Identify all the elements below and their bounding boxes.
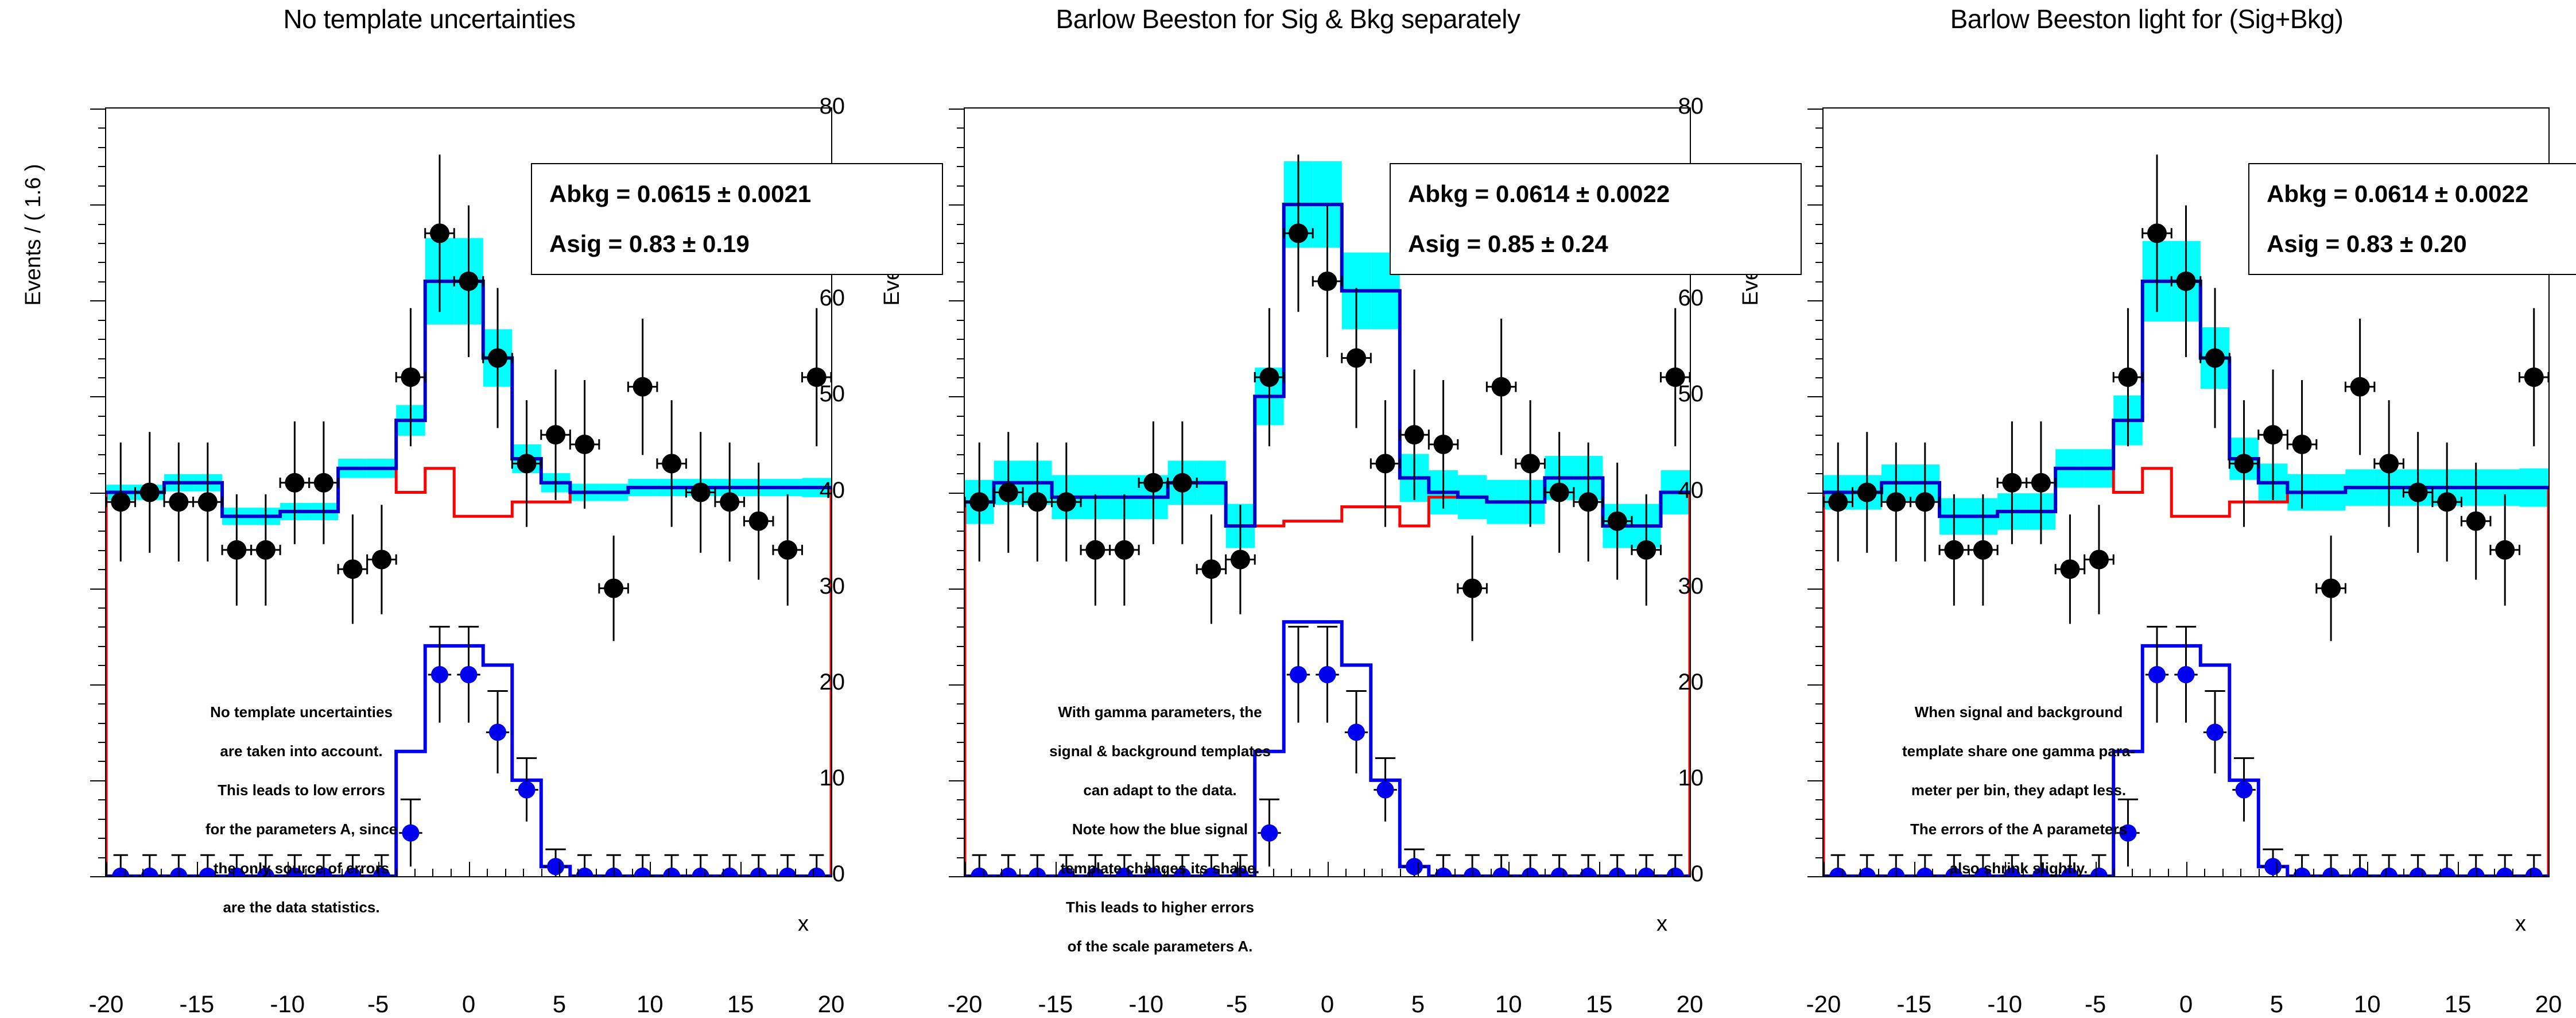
x-tick-minor [596,869,597,877]
data-point [1944,540,1964,560]
data-point [401,367,420,387]
x-tick-label: 20 [2508,990,2576,1018]
x-tick-label: 20 [1650,990,1730,1018]
signal-data-point [2236,781,2253,799]
y-tick-major [949,780,965,781]
stat-asig: Asig = 0.83 ± 0.20 [2267,230,2576,258]
y-tick-minor [1815,646,1824,647]
x-tick-major [1599,862,1600,877]
y-tick-minor [1815,339,1824,340]
y-tick-major [90,589,106,590]
y-tick-minor [957,454,965,455]
panel-annotation: With gamma parameters, the signal & back… [999,705,1321,978]
x-tick-minor [1436,869,1437,877]
data-point [2263,425,2283,444]
y-tick-minor [98,550,106,551]
y-tick-major [949,396,965,397]
y-tick-minor [1815,185,1824,187]
data-point [256,540,276,560]
data-point [2379,454,2399,473]
y-tick-minor [98,243,106,244]
annotation-line: meter per bin, they adapt less. [1858,783,2179,798]
y-tick-minor [957,703,965,705]
signal-data-point [2294,868,2311,876]
data-point [1085,540,1105,560]
y-tick-label: 40 [782,478,845,504]
y-tick-minor [98,473,106,474]
y-tick-major [90,109,106,110]
x-tick-label: -5 [338,990,418,1018]
plot-frame: Events / ( 1.6 ) With gamma parameters, … [964,107,1691,877]
y-tick-minor [98,799,106,800]
data-point [1973,540,1993,560]
data-point [1608,512,1627,531]
y-tick-major [1807,493,1824,494]
data-point [1347,349,1366,368]
x-tick-minor [2349,869,2350,877]
signal-data-point [971,868,988,876]
y-tick-major [1807,589,1824,590]
annotation-line: are the data statistics. [141,900,462,915]
data-point [2002,473,2022,493]
annotation-line: can adapt to the data. [999,783,1321,798]
x-tick-minor [1382,869,1383,877]
data-point [517,454,537,473]
x-tick-minor [983,869,984,877]
x-tick-label: -20 [66,990,146,1018]
y-tick-label: 80 [782,94,845,119]
x-tick-label: 10 [610,990,690,1018]
y-tick-minor [1815,454,1824,455]
x-tick-minor [668,869,669,877]
x-tick-label: 0 [2146,990,2226,1018]
y-tick-label: 50 [782,381,845,407]
x-tick-minor [1563,869,1564,877]
y-tick-minor [1815,819,1824,820]
data-point [720,492,739,512]
data-point [169,492,188,512]
y-tick-minor [957,377,965,378]
x-tick-label: -20 [925,990,1005,1018]
panel-1: No template uncertainties Events / ( 1.6… [0,0,859,985]
signal-data-point [431,666,448,683]
x-tick-major [965,862,966,877]
y-tick-minor [1815,166,1824,167]
annotation-line: This leads to higher errors [999,900,1321,915]
data-point [662,454,681,473]
y-tick-minor [957,550,965,551]
x-tick-minor [2259,869,2260,877]
x-tick-major [2276,862,2278,877]
data-point [2205,349,2225,368]
stat-abkg: Abkg = 0.0614 ± 0.0022 [1408,180,1801,208]
plot-frame: Events / ( 1.6 ) No template uncertainti… [105,107,832,877]
annotation-line: are taken into account. [141,744,462,758]
data-point [343,559,362,579]
y-tick-minor [957,665,965,666]
y-tick-minor [957,742,965,743]
data-point [227,540,246,560]
y-tick-label: 60 [782,285,845,311]
signal-data-point [1377,781,1394,799]
annotation-line: template changes its shape. [999,861,1321,876]
x-tick-major [650,862,651,877]
y-tick-minor [1815,531,1824,532]
data-point [1143,473,1163,493]
y-tick-minor [98,166,106,167]
panel-3: Barlow Beeston light for (Sig+Bkg) Event… [1717,0,2576,985]
y-tick-minor [1815,550,1824,551]
y-tick-label: 20 [782,669,845,695]
y-tick-minor [98,723,106,724]
x-axis-label: x [2515,912,2526,936]
data-point [314,473,333,493]
x-tick-minor [1454,869,1456,877]
y-tick-minor [98,819,106,820]
x-tick-major [2186,862,2187,877]
annotation-line: also shrink slightly. [1858,861,2179,876]
data-point [1231,549,1250,569]
x-tick-major [1418,862,1419,877]
y-tick-minor [98,185,106,187]
data-point [1434,435,1453,454]
y-tick-minor [957,473,965,474]
y-tick-minor [957,646,965,647]
signal-data-point [1435,868,1452,876]
x-tick-minor [2240,869,2241,877]
y-tick-major [1807,109,1824,110]
y-tick-minor [98,607,106,609]
y-tick-minor [1815,607,1824,609]
data-point [1318,272,1337,291]
signal-data-point [2178,666,2195,683]
data-point [546,425,565,444]
data-point [1173,473,1192,493]
y-tick-minor [98,147,106,148]
signal-data-point [721,868,738,876]
x-tick-label: 10 [2327,990,2407,1018]
signal-data-point [1406,858,1423,875]
data-point [1636,540,1656,560]
y-tick-minor [98,454,106,455]
y-tick-minor [98,857,106,858]
y-tick-major [90,300,106,301]
x-tick-major [1824,862,1825,877]
y-tick-minor [98,127,106,129]
y-tick-major [90,493,106,494]
y-tick-minor [957,243,965,244]
y-tick-label: 10 [782,765,845,791]
y-tick-minor [957,127,965,129]
y-tick-label: 60 [1640,285,1704,311]
signal-data-point [1580,868,1597,876]
panel-annotation: No template uncertainties are taken into… [141,705,462,939]
stat-asig: Asig = 0.85 ± 0.24 [1408,230,1801,258]
y-tick-minor [957,531,965,532]
y-tick-major [1807,684,1824,686]
y-tick-minor [1815,742,1824,743]
data-point [2031,473,2051,493]
y-tick-minor [1815,281,1824,282]
y-tick-label: 80 [1640,94,1704,119]
y-tick-minor [1815,320,1824,321]
y-tick-label: 20 [1640,669,1704,695]
panel-2: Barlow Beeston for Sig & Bkg separately … [859,0,1717,985]
x-tick-minor [2313,869,2314,877]
y-tick-minor [957,838,965,839]
data-point [198,492,218,512]
y-tick-minor [98,646,106,647]
x-tick-minor [2385,869,2387,877]
y-tick-minor [1815,512,1824,513]
signal-data-point [1290,666,1307,683]
annotation-line: No template uncertainties [141,705,462,719]
x-tick-minor [1400,869,1401,877]
data-point [2437,492,2457,512]
plot-frame: Events / ( 1.6 ) When signal and backgro… [1822,107,2550,877]
y-tick-minor [98,742,106,743]
data-point [2118,367,2137,387]
y-tick-minor [957,435,965,436]
y-tick-major [90,204,106,206]
y-tick-minor [957,857,965,858]
y-tick-minor [957,607,965,609]
data-point [1289,223,1308,243]
y-tick-minor [98,262,106,263]
y-tick-minor [1815,857,1824,858]
signal-data-point [2525,868,2543,876]
x-tick-minor [2295,869,2296,877]
x-tick-major [2548,862,2550,877]
x-tick-label: 0 [1287,990,1368,1018]
y-tick-major [949,876,965,877]
x-tick-label: 20 [791,990,871,1018]
data-point [1550,483,1569,502]
x-tick-major [106,862,107,877]
x-tick-minor [686,869,687,877]
signal-data-point [2496,868,2513,876]
signal-data-point [2264,858,2282,875]
y-tick-major [90,876,106,877]
x-tick-major [1328,862,1329,877]
data-point [1115,540,1134,560]
x-tick-minor [1527,869,1528,877]
annotation-line: signal & background templates [999,744,1321,758]
x-tick-label: -5 [1197,990,1277,1018]
stats-box: Abkg = 0.0615 ± 0.0021 Asig = 0.83 ± 0.1… [531,163,943,275]
y-tick-major [1807,876,1824,877]
x-tick-minor [2494,869,2495,877]
y-tick-major [90,684,106,686]
data-point [2089,549,2109,569]
data-point [2495,540,2515,560]
x-tick-major [469,862,470,877]
x-tick-label: 15 [700,990,781,1018]
x-tick-minor [1472,869,1473,877]
y-tick-minor [98,416,106,417]
data-point [2524,367,2544,387]
x-tick-minor [2403,869,2404,877]
data-point [2060,559,2080,579]
x-tick-major [2458,862,2459,877]
annotation-line: the only source of errors [141,861,462,876]
signal-data-point [634,868,651,876]
x-tick-minor [777,869,778,877]
x-tick-minor [759,869,760,877]
x-tick-minor [505,869,506,877]
y-tick-minor [1815,243,1824,244]
y-tick-minor [957,147,965,148]
signal-data-point [1348,723,1365,741]
y-tick-major [949,684,965,686]
y-tick-minor [98,224,106,225]
signal-data-point [1551,868,1568,876]
y-tick-minor [1815,377,1824,378]
y-tick-label: 10 [1640,765,1704,791]
y-tick-major [90,396,106,397]
x-tick-minor [632,869,633,877]
x-tick-minor [125,869,126,877]
x-tick-major [2367,862,2368,877]
x-tick-label: 0 [429,990,509,1018]
signal-data-point [2380,868,2397,876]
y-tick-minor [957,224,965,225]
data-point [2350,377,2370,397]
data-point [2292,435,2312,454]
data-point [459,272,479,291]
x-tick-label: -15 [1874,990,1954,1018]
y-tick-minor [1815,569,1824,570]
y-tick-minor [98,320,106,321]
x-tick-label: -10 [1106,990,1186,1018]
x-tick-minor [523,869,524,877]
data-point [604,579,623,598]
y-tick-minor [957,723,965,724]
stat-asig: Asig = 0.83 ± 0.19 [549,230,942,258]
x-tick-minor [1545,869,1546,877]
y-tick-minor [957,799,965,800]
data-point [1492,377,1511,397]
stat-abkg: Abkg = 0.0614 ± 0.0022 [2267,180,2576,208]
y-tick-minor [1815,473,1824,474]
data-point [1886,492,1906,512]
y-tick-minor [1815,626,1824,628]
x-tick-label: -10 [247,990,328,1018]
x-tick-label: -15 [157,990,237,1018]
y-tick-major [1807,780,1824,781]
signal-data-point [547,858,564,875]
data-point [1915,492,1935,512]
signal-data-point [2410,868,2427,876]
y-tick-label: 50 [1640,381,1704,407]
signal-data-point [1829,868,1846,876]
y-tick-major [90,780,106,781]
signal-data-point [576,868,593,876]
y-tick-minor [1815,761,1824,762]
y-tick-major [1807,396,1824,397]
y-tick-minor [98,569,106,570]
y-tick-minor [957,416,965,417]
y-tick-label: 40 [1640,478,1704,504]
data-point [1057,492,1076,512]
panel-title: Barlow Beeston for Sig & Bkg separately [859,3,1717,34]
y-tick-minor [98,626,106,628]
y-tick-label: 0 [782,861,845,887]
data-point [691,483,711,502]
data-point [488,349,507,368]
data-point [2466,512,2486,531]
panel-annotation: When signal and background template shar… [1858,705,2179,900]
y-tick-minor [98,281,106,282]
y-tick-minor [957,761,965,762]
stat-abkg: Abkg = 0.0615 ± 0.0021 [549,180,942,208]
signal-data-point [460,666,478,683]
data-point [1462,579,1482,598]
y-tick-major [1807,300,1824,301]
signal-data-point [2438,868,2455,876]
stats-box: Abkg = 0.0614 ± 0.0022 Asig = 0.85 ± 0.2… [1390,163,1802,275]
y-tick-minor [98,358,106,359]
y-tick-minor [957,569,965,570]
y-tick-major [949,589,965,590]
panel-title: No template uncertainties [0,3,859,34]
y-tick-major [949,300,965,301]
data-point [969,492,989,512]
x-tick-minor [1635,869,1636,877]
data-point [2234,454,2254,473]
x-tick-minor [1345,869,1347,877]
y-tick-minor [1815,262,1824,263]
y-tick-minor [957,262,965,263]
data-point [2177,272,2196,291]
data-point [2147,223,2167,243]
x-tick-label: 10 [1468,990,1549,1018]
y-tick-minor [1815,358,1824,359]
x-tick-minor [1491,869,1492,877]
y-tick-minor [1815,799,1824,800]
data-point [778,540,797,560]
x-tick-label: -10 [1965,990,2045,1018]
y-tick-minor [1815,723,1824,724]
data-point [285,473,304,493]
data-point [1828,492,1848,512]
x-tick-minor [2422,869,2423,877]
data-point [2321,579,2341,598]
annotation-line: The errors of the A parameters [1858,822,2179,837]
y-tick-minor [98,838,106,839]
y-tick-minor [98,377,106,378]
x-tick-minor [1364,869,1365,877]
x-tick-minor [2476,869,2477,877]
figure-canvas: No template uncertainties Events / ( 1.6… [0,0,2576,985]
y-tick-minor [98,703,106,705]
signal-data-point [2352,868,2369,876]
x-tick-minor [704,869,705,877]
x-tick-major [740,862,742,877]
x-tick-minor [723,869,724,877]
y-tick-minor [98,435,106,436]
data-point [430,223,449,243]
y-tick-minor [98,512,106,513]
x-tick-minor [614,869,615,877]
y-tick-major [949,204,965,206]
y-tick-minor [957,512,965,513]
data-point [1857,483,1877,502]
annotation-line: When signal and background [1858,705,2179,719]
annotation-line: With gamma parameters, the [999,705,1321,719]
x-tick-minor [541,869,542,877]
annotation-line: of the scale parameters A. [999,939,1321,954]
